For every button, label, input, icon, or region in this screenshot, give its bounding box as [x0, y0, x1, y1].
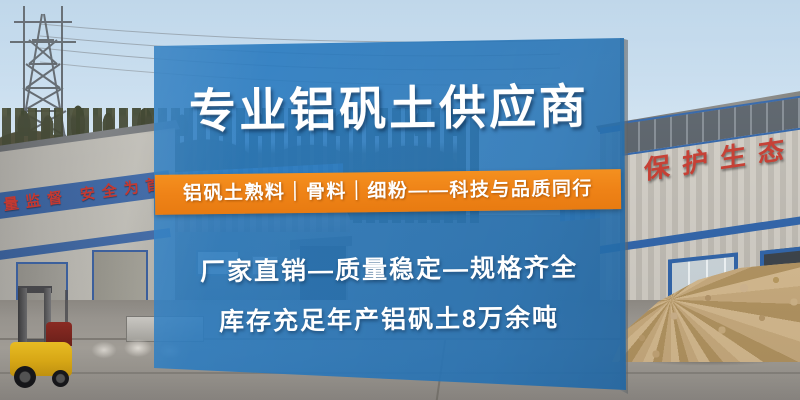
banner-headline: 专业铝矾土供应商	[152, 77, 627, 141]
tagline-line-2: 库存充足年产铝矾土8万余吨	[152, 297, 626, 339]
subtitle-orange-bar: 铝矾土熟料｜骨料｜细粉——科技与品质同行	[155, 169, 621, 215]
banner-content: 专业铝矾土供应商 铝矾土熟料｜骨料｜细粉——科技与品质同行 厂家直销—质量稳定—…	[152, 38, 626, 394]
promo-banner: 质量监督 安全为首 保护生态	[0, 0, 800, 400]
subtitle-text: 铝矾土熟料｜骨料｜细粉——科技与品质同行	[155, 169, 621, 215]
tagline-line-1: 厂家直销—质量稳定—规格齐全	[152, 247, 626, 289]
